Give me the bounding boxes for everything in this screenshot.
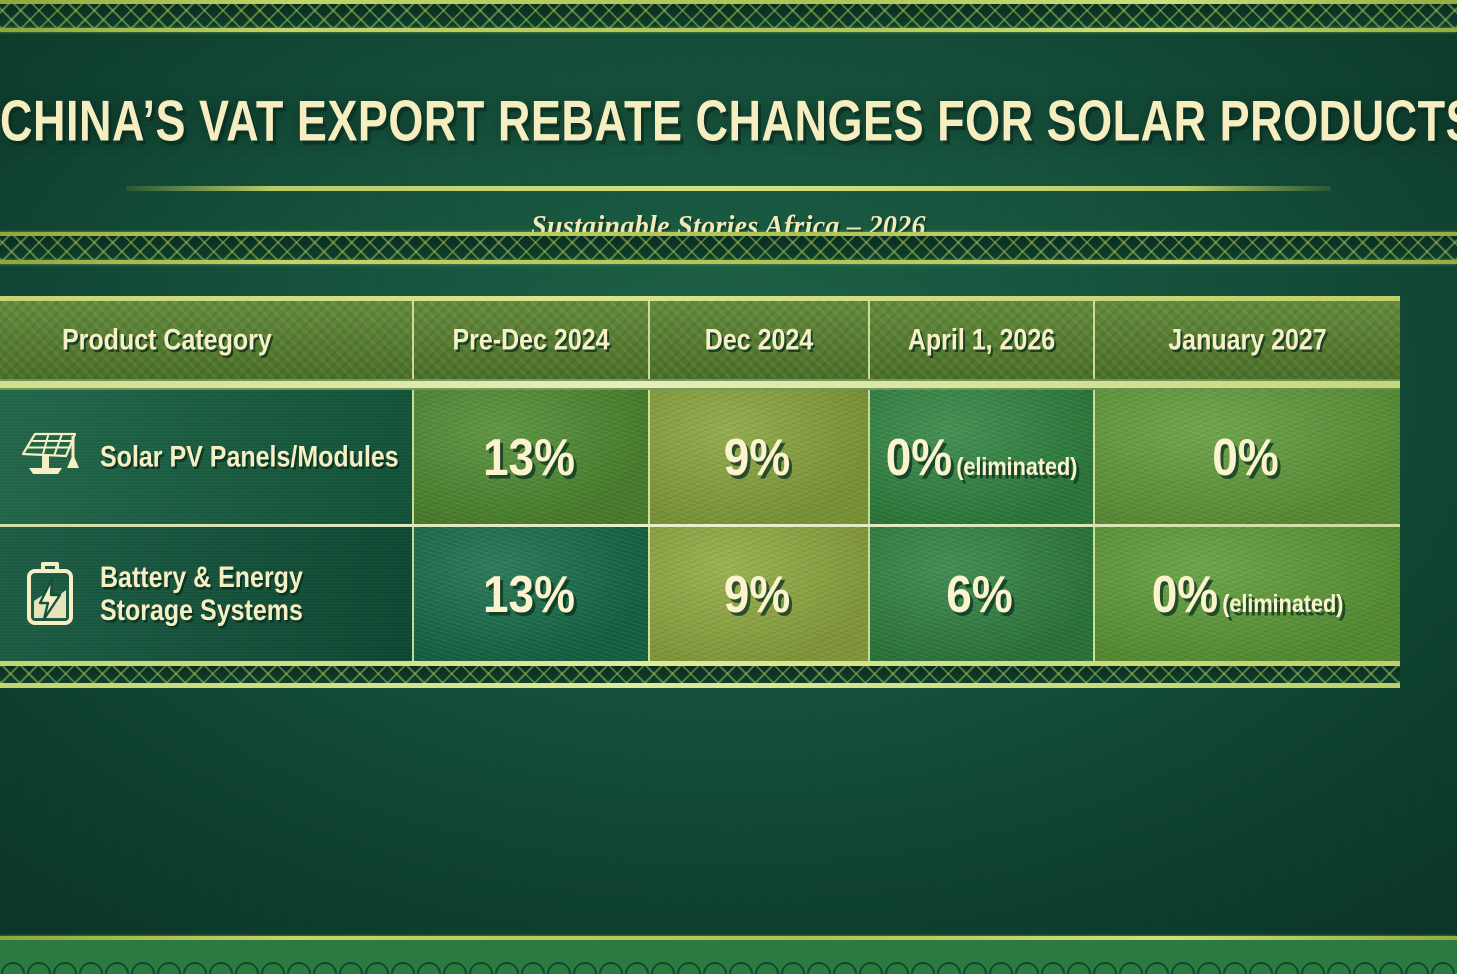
row-label-line-2: Storage Systems bbox=[100, 594, 303, 627]
table-row: Battery & EnergyStorage Systems 13% 9% 6… bbox=[0, 527, 1400, 661]
mid-band-rule-lower bbox=[0, 260, 1457, 264]
mid-lattice-pattern-icon bbox=[0, 236, 1457, 260]
column-header-dec-2024: Dec 2024 bbox=[648, 301, 868, 379]
cell-value-note: (eliminated) bbox=[1222, 590, 1343, 619]
bottom-decorative-band bbox=[0, 936, 1457, 974]
poster-header: CHINA’S VAT EXPORT REBATE CHANGES FOR SO… bbox=[0, 40, 1457, 243]
cell-value: 0% (eliminated) bbox=[1152, 564, 1344, 624]
lattice-pattern-icon bbox=[0, 4, 1457, 28]
cell-value: 9% bbox=[724, 564, 794, 624]
band-rule-lower bbox=[0, 28, 1457, 32]
cell-value: 6% bbox=[946, 564, 1016, 624]
row-label-text: Battery & EnergyStorage Systems bbox=[100, 561, 303, 627]
cell-value-number: 13% bbox=[483, 564, 575, 624]
cell-battery-pre-dec-2024: 13% bbox=[412, 527, 648, 661]
column-header-april-1-2026: April 1, 2026 bbox=[868, 301, 1093, 379]
column-header-label: Pre-Dec 2024 bbox=[452, 323, 609, 358]
cell-battery-april-1-2026: 6% bbox=[868, 527, 1093, 661]
cell-value: 13% bbox=[483, 427, 579, 487]
column-header-label: Product Category bbox=[62, 323, 272, 358]
cell-value-number: 13% bbox=[483, 427, 575, 487]
cell-solar-dec-2024: 9% bbox=[648, 390, 868, 524]
cell-value-number: 6% bbox=[946, 564, 1012, 624]
table-footer-lattice-icon bbox=[0, 666, 1400, 683]
table-row: Solar PV Panels/Modules 13% 9% 0% (elimi… bbox=[0, 390, 1400, 524]
row-label-battery-storage: Battery & EnergyStorage Systems bbox=[0, 527, 412, 661]
top-decorative-band bbox=[0, 0, 1457, 32]
cell-value-number: 9% bbox=[724, 427, 790, 487]
title-underline bbox=[126, 186, 1331, 191]
cell-value-number: 0% bbox=[886, 427, 952, 487]
row-label-text: Solar PV Panels/Modules bbox=[100, 440, 399, 473]
cell-value: 0% (eliminated) bbox=[886, 427, 1078, 487]
arch-pattern-background bbox=[0, 940, 1457, 974]
cell-solar-april-1-2026: 0% (eliminated) bbox=[868, 390, 1093, 524]
cell-battery-january-2027: 0% (eliminated) bbox=[1093, 527, 1400, 661]
row-label-solar-pv: Solar PV Panels/Modules bbox=[0, 390, 412, 524]
cell-solar-pre-dec-2024: 13% bbox=[412, 390, 648, 524]
infographic-poster: CHINA’S VAT EXPORT REBATE CHANGES FOR SO… bbox=[0, 0, 1457, 974]
table-footer-rule-lower bbox=[0, 683, 1400, 688]
column-header-product-category: Product Category bbox=[0, 301, 412, 379]
table-header-divider bbox=[0, 379, 1400, 390]
column-header-label: April 1, 2026 bbox=[908, 323, 1055, 358]
arch-pattern-icon bbox=[0, 940, 1457, 974]
cell-value-number: 9% bbox=[724, 564, 790, 624]
column-header-label: Dec 2024 bbox=[705, 323, 813, 358]
column-header-label: January 2027 bbox=[1168, 323, 1326, 358]
solar-panel-icon bbox=[14, 416, 86, 498]
table-header-row: Product Category Pre-Dec 2024 Dec 2024 A… bbox=[0, 301, 1400, 379]
cell-value-number: 0% bbox=[1152, 564, 1218, 624]
cell-solar-january-2027: 0% bbox=[1093, 390, 1400, 524]
row-label-line-1: Battery & Energy bbox=[100, 561, 303, 594]
cell-value: 0% bbox=[1212, 427, 1282, 487]
battery-icon bbox=[14, 553, 86, 635]
cell-value-number: 0% bbox=[1212, 427, 1278, 487]
cell-value: 13% bbox=[483, 564, 579, 624]
cell-value-note: (eliminated) bbox=[956, 453, 1077, 482]
column-header-pre-dec-2024: Pre-Dec 2024 bbox=[412, 301, 648, 379]
page-title: CHINA’S VAT EXPORT REBATE CHANGES FOR SO… bbox=[0, 88, 1457, 155]
vat-rebate-table: Product Category Pre-Dec 2024 Dec 2024 A… bbox=[0, 296, 1400, 688]
cell-battery-dec-2024: 9% bbox=[648, 527, 868, 661]
cell-value: 9% bbox=[724, 427, 794, 487]
column-header-january-2027: January 2027 bbox=[1093, 301, 1400, 379]
middle-decorative-band bbox=[0, 232, 1457, 264]
table-footer-band bbox=[0, 661, 1400, 688]
